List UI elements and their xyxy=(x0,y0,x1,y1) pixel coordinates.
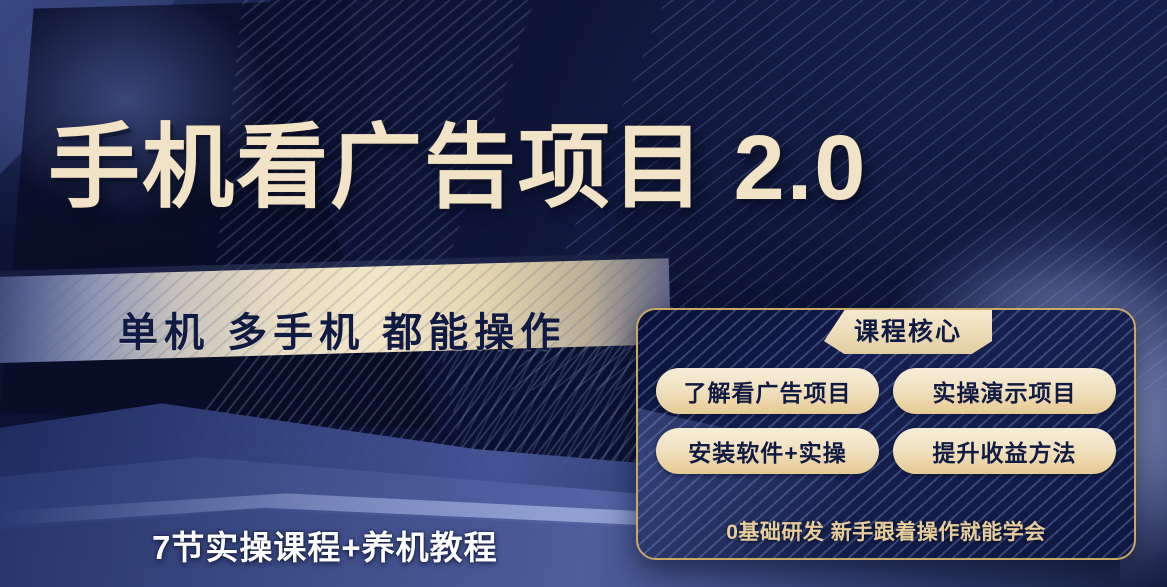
promo-banner: 手机看广告项目 2.0 单机 多手机 都能操作 7节实操课程+养机教程 课程核心… xyxy=(0,0,1167,587)
subtitle: 单机 多手机 都能操作 xyxy=(118,300,566,358)
panel-header-tab: 课程核心 xyxy=(824,308,992,354)
panel-footer-note: 0基础研发 新手跟着操作就能学会 xyxy=(638,516,1134,546)
course-count-note: 7节实操课程+养机教程 xyxy=(152,521,498,569)
feature-pill-label: 安装软件+实操 xyxy=(688,434,846,468)
feature-pill[interactable]: 提升收益方法 xyxy=(893,428,1116,474)
feature-pill-label: 实操演示项目 xyxy=(933,374,1077,408)
panel-header-label: 课程核心 xyxy=(854,312,962,348)
feature-pill[interactable]: 安装软件+实操 xyxy=(656,428,879,474)
course-core-panel: 课程核心 了解看广告项目 实操演示项目 安装软件+实操 提升收益方法 0基础研发… xyxy=(636,308,1136,560)
feature-pill[interactable]: 了解看广告项目 xyxy=(656,368,879,414)
page-title: 手机看广告项目 2.0 xyxy=(48,122,867,214)
feature-pill[interactable]: 实操演示项目 xyxy=(893,368,1116,414)
feature-pill-label: 提升收益方法 xyxy=(933,434,1077,468)
feature-pill-grid: 了解看广告项目 实操演示项目 安装软件+实操 提升收益方法 xyxy=(638,368,1134,474)
feature-pill-label: 了解看广告项目 xyxy=(684,374,852,408)
